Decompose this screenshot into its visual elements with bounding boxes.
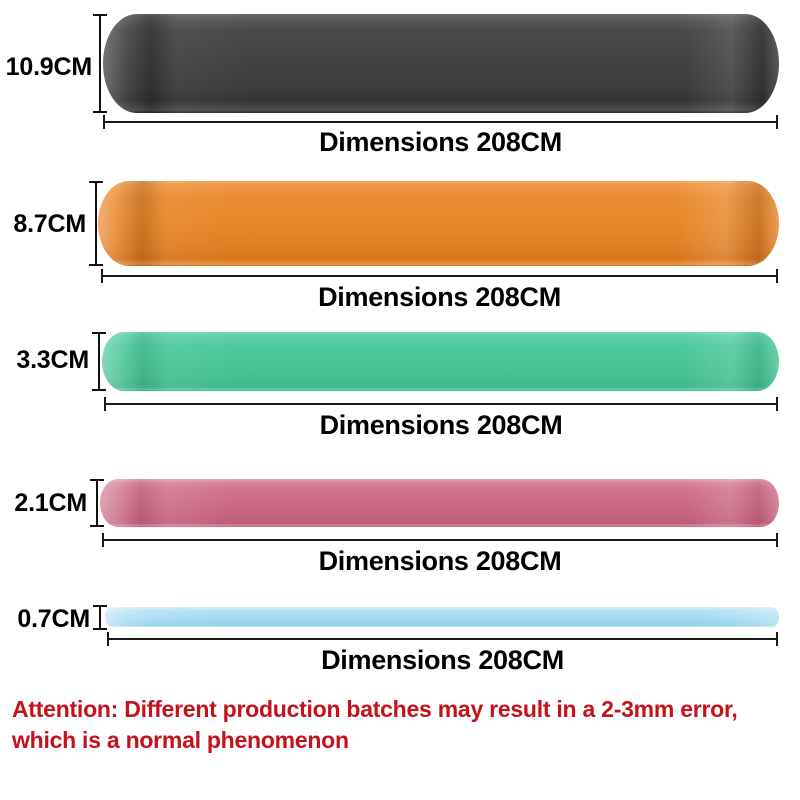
tick-cap-right <box>776 269 778 283</box>
pink-band-height-label: 2.1CM <box>0 491 87 516</box>
tick-cap-bottom <box>89 264 103 266</box>
pink-band-length-label: Dimensions 208CM <box>102 548 778 575</box>
attention-line-2: which is a normal phenomenon <box>12 725 792 756</box>
green-band-height-label: 3.3CM <box>0 348 89 373</box>
attention-line-1: Attention: Different production batches … <box>12 694 792 725</box>
blue-band-length-line <box>107 638 778 640</box>
tick-cap-top <box>93 14 107 16</box>
tick-cap-left <box>102 533 104 547</box>
black-band-length-label: Dimensions 208CM <box>103 129 778 156</box>
tick-cap-top <box>89 181 103 183</box>
orange-band-height-label: 8.7CM <box>0 212 86 237</box>
band-dimensions-diagram: 10.9CM Dimensions 208CM 8.7CM Dimensions… <box>0 0 800 800</box>
green-band <box>102 332 779 391</box>
tick-cap-bottom <box>93 111 107 113</box>
tick-cap-right <box>776 397 778 411</box>
tick-cap-right <box>776 533 778 547</box>
band-row-green: 3.3CM Dimensions 208CM <box>0 318 800 458</box>
black-band-gloss <box>103 14 779 113</box>
band-row-blue: 0.7CM Dimensions 208CM <box>0 590 800 694</box>
black-band <box>103 14 779 113</box>
blue-band-height-line <box>99 605 101 630</box>
tick-cap-top <box>93 605 107 607</box>
black-band-height-line <box>99 14 101 113</box>
blue-band-height-label: 0.7CM <box>0 607 90 632</box>
black-band-length-line <box>103 121 778 123</box>
blue-band-gloss <box>105 607 779 627</box>
pink-band-length-line <box>102 539 778 541</box>
band-row-black: 10.9CM Dimensions 208CM <box>0 0 800 160</box>
green-band-height-line <box>98 332 100 391</box>
tick-cap-left <box>104 397 106 411</box>
green-band-gloss <box>102 332 779 391</box>
tick-cap-bottom <box>92 389 106 391</box>
pink-band-height-line <box>96 479 98 527</box>
tick-cap-bottom <box>90 525 104 527</box>
orange-band-gloss <box>98 181 779 266</box>
band-row-orange: 8.7CM Dimensions 208CM <box>0 160 800 318</box>
black-band-height-label: 10.9CM <box>4 55 92 80</box>
green-band-length-line <box>104 403 778 405</box>
band-row-pink: 2.1CM Dimensions 208CM <box>0 458 800 590</box>
tick-cap-top <box>92 332 106 334</box>
blue-band <box>105 607 779 627</box>
tick-cap-left <box>101 269 103 283</box>
orange-band-height-line <box>95 181 97 266</box>
tick-cap-right <box>776 632 778 646</box>
tick-cap-left <box>103 115 105 129</box>
attention-note: Attention: Different production batches … <box>12 694 792 755</box>
tick-cap-bottom <box>93 628 107 630</box>
blue-band-length-label: Dimensions 208CM <box>107 647 778 674</box>
pink-band <box>100 479 779 527</box>
tick-cap-right <box>776 115 778 129</box>
orange-band-length-line <box>101 275 778 277</box>
pink-band-gloss <box>100 479 779 527</box>
orange-band <box>98 181 779 266</box>
green-band-length-label: Dimensions 208CM <box>104 412 778 439</box>
orange-band-length-label: Dimensions 208CM <box>101 284 778 311</box>
tick-cap-left <box>107 632 109 646</box>
tick-cap-top <box>90 479 104 481</box>
